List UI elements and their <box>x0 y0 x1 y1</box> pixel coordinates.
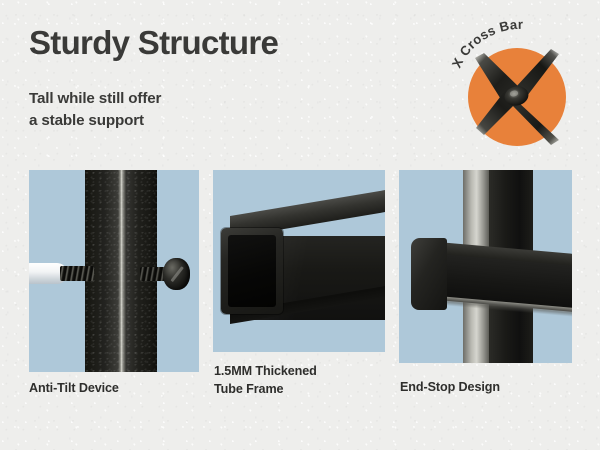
feature-caption-end-stop: End-Stop Design <box>400 379 500 397</box>
page-title: Sturdy Structure <box>29 26 278 61</box>
caption-2-line-1: 1.5MM Thickened <box>214 363 317 381</box>
end-stop-lip <box>411 238 447 310</box>
caption-1-line-1: Anti-Tilt Device <box>29 380 119 398</box>
feature-caption-tube-frame: 1.5MM Thickened Tube Frame <box>214 363 317 399</box>
feature-image-tube-frame <box>213 170 385 352</box>
x-cross-bar-badge: X Cross Bar <box>452 14 588 154</box>
feature-image-anti-tilt-device <box>29 170 199 372</box>
caption-2-line-2: Tube Frame <box>214 381 317 399</box>
tube-hollow-opening <box>228 235 276 307</box>
infographic-canvas: Sturdy Structure Tall while still offer … <box>0 0 600 450</box>
x-cross-bar-icon <box>468 48 566 146</box>
page-subtitle: Tall while still offer a stable support <box>29 88 161 131</box>
caption-3-line-1: End-Stop Design <box>400 379 500 397</box>
subtitle-line-1: Tall while still offer <box>29 88 161 110</box>
feature-image-end-stop <box>399 170 572 363</box>
feature-caption-anti-tilt-device: Anti-Tilt Device <box>29 380 119 398</box>
fixing-screw-head <box>163 258 190 290</box>
subtitle-line-2: a stable support <box>29 110 161 132</box>
anchor-screw-thread <box>60 266 94 281</box>
